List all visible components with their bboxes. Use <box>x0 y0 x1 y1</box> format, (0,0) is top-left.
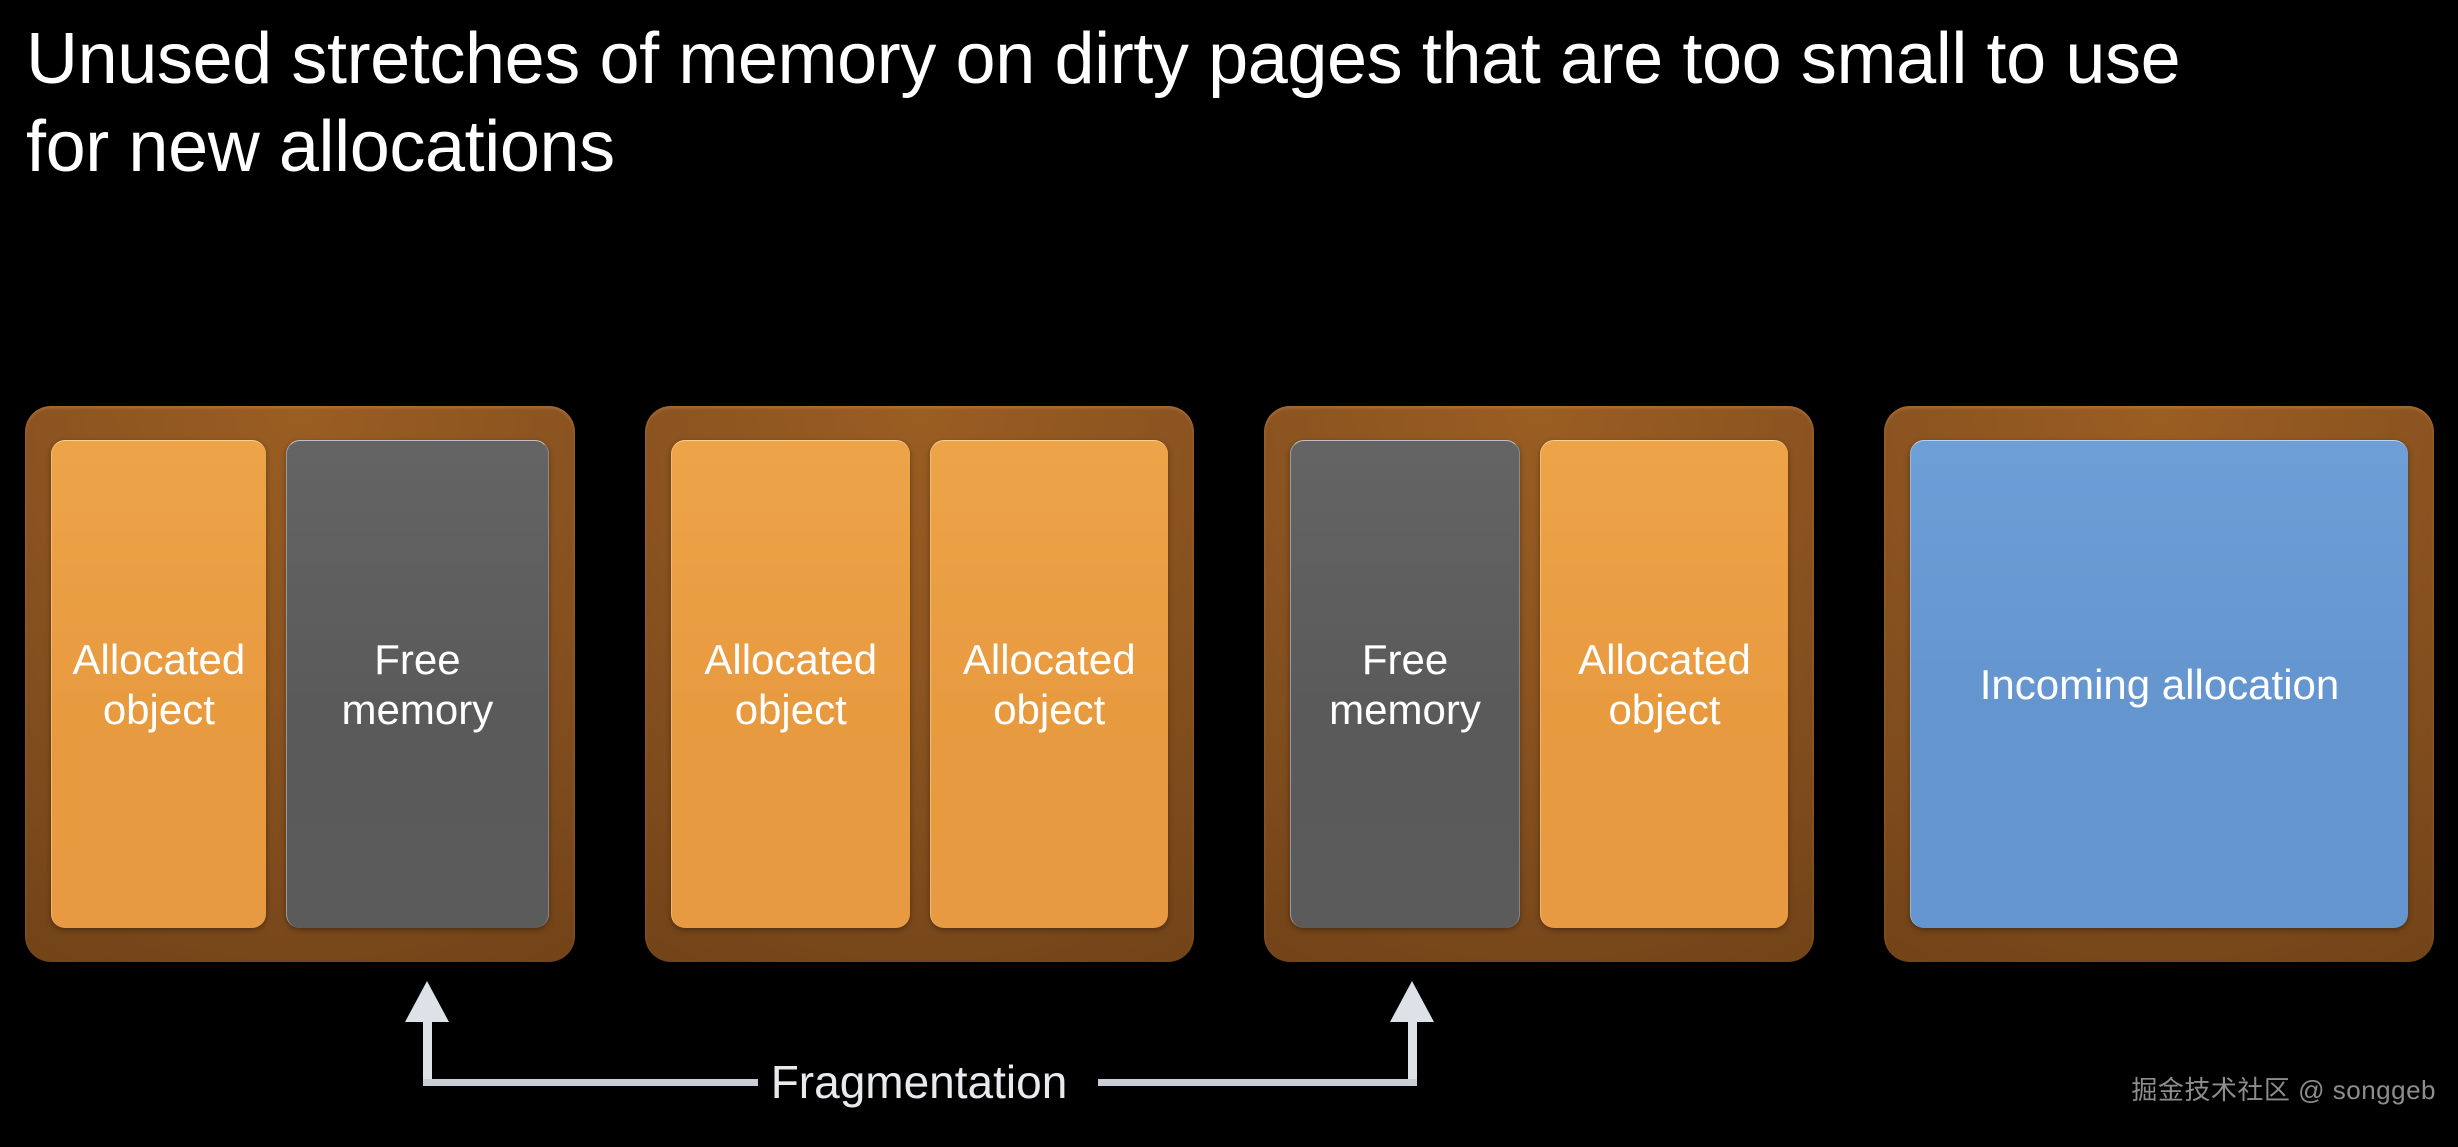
memory-page-2: Allocated object Allocated object <box>645 406 1194 962</box>
allocated-object-panel[interactable]: Allocated object <box>51 440 266 928</box>
panel-label: Allocated object <box>1578 635 1751 734</box>
memory-pages-diagram: Allocated object Free memory Allocated o… <box>0 0 2458 1142</box>
allocated-object-panel[interactable]: Allocated object <box>930 440 1169 928</box>
free-memory-panel[interactable]: Free memory <box>286 440 549 928</box>
watermark: 掘金技术社区 @ songgeb <box>2131 1070 2436 1107</box>
allocated-object-panel[interactable]: Allocated object <box>671 440 910 928</box>
allocated-object-panel[interactable]: Allocated object <box>1540 440 1788 928</box>
incoming-allocation-panel[interactable]: Incoming allocation <box>1910 440 2408 928</box>
panel-label: Allocated object <box>72 635 245 734</box>
memory-page-1: Allocated object Free memory <box>25 406 575 962</box>
panel-label: Allocated object <box>963 635 1136 734</box>
panel-label: Incoming allocation <box>1980 660 2340 710</box>
panel-label: Free memory <box>1329 635 1481 734</box>
panel-label: Free memory <box>342 635 494 734</box>
memory-page-4: Incoming allocation <box>1884 406 2434 962</box>
memory-page-3: Free memory Allocated object <box>1264 406 1814 962</box>
panel-label: Allocated object <box>704 635 877 734</box>
free-memory-panel[interactable]: Free memory <box>1290 440 1520 928</box>
